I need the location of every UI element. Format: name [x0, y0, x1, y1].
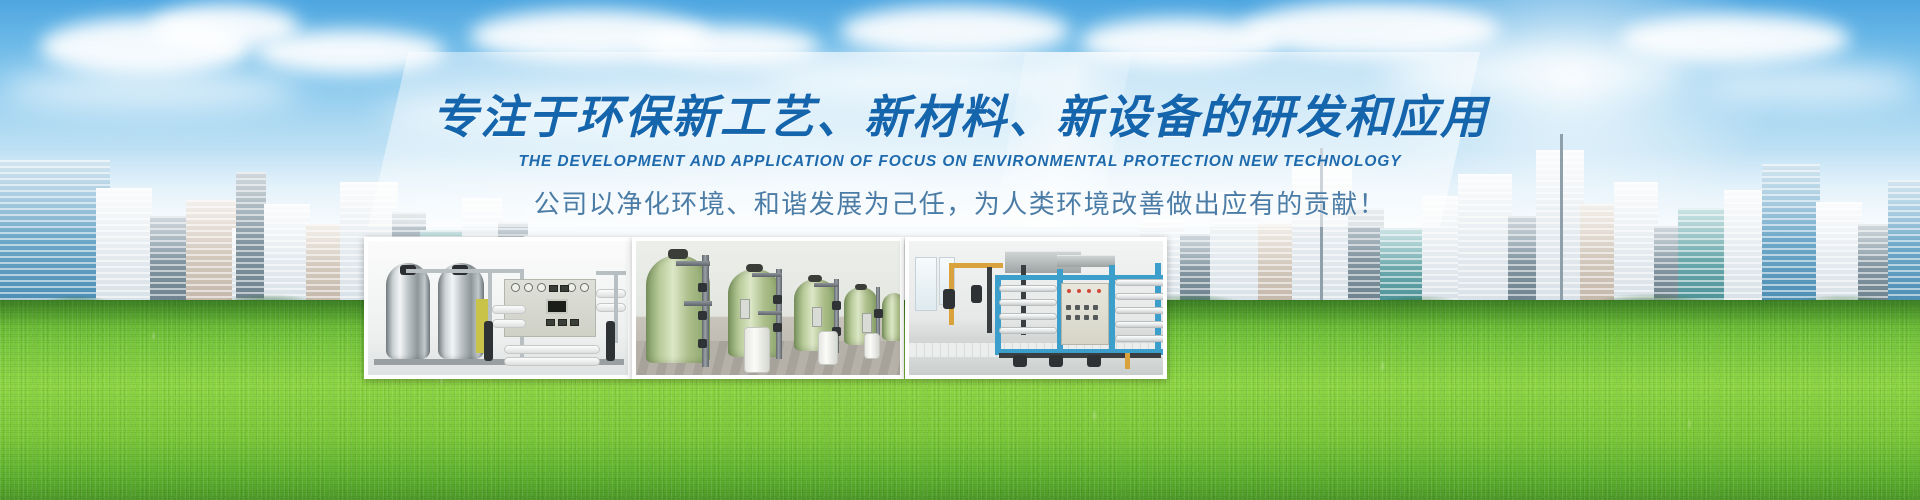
photo-industrial-reverse-osmosis-plant[interactable]: [905, 237, 1167, 379]
hero-banner: 专注于环保新工艺、新材料、新设备的研发和应用 THE DEVELOPMENT A…: [0, 0, 1920, 500]
photo-green-frp-filter-tank-row[interactable]: [632, 237, 904, 379]
photo-stainless-steel-ro-water-treatment-system[interactable]: [364, 237, 632, 379]
photo-strip: [0, 0, 1920, 500]
